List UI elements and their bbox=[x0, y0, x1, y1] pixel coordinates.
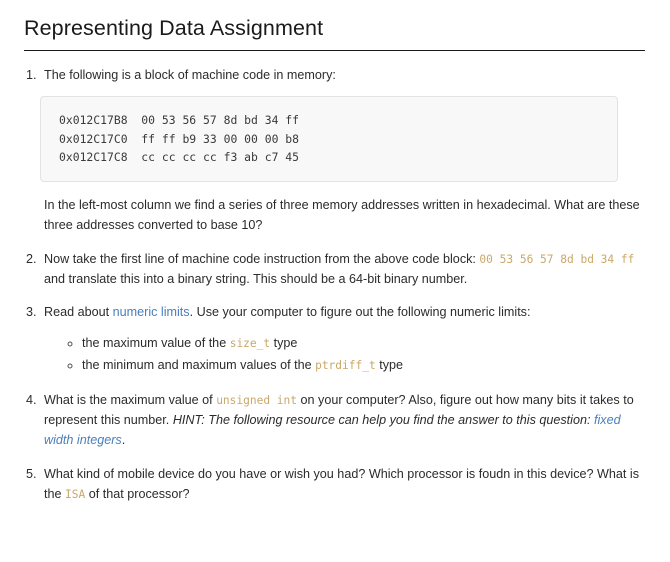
question-3-part2: . Use your computer to figure out the fo… bbox=[190, 305, 531, 319]
question-4-part1: What is the maximum value of bbox=[44, 393, 216, 407]
sub-item-0-inline-code: size_t bbox=[230, 337, 270, 350]
sub-item-0-part2: type bbox=[270, 336, 297, 350]
sub-item-1-part2: type bbox=[376, 358, 403, 372]
list-item: the minimum and maximum values of the pt… bbox=[82, 354, 646, 376]
question-item-2: Now take the first line of machine code … bbox=[40, 249, 646, 290]
question-item-1: The following is a block of machine code… bbox=[40, 65, 646, 236]
question-2-part1: Now take the first line of machine code … bbox=[44, 252, 479, 266]
question-item-3: Read about numeric limits. Use your comp… bbox=[40, 302, 646, 376]
document-body: The following is a block of machine code… bbox=[0, 51, 670, 505]
sub-item-0-part1: the maximum value of the bbox=[82, 336, 230, 350]
document-page: Representing Data Assignment The followi… bbox=[0, 0, 670, 562]
question-item-4: What is the maximum value of unsigned in… bbox=[40, 390, 646, 451]
question-2-inline-code: 00 53 56 57 8d bd 34 ff bbox=[479, 253, 634, 266]
numeric-limits-sub-list: the maximum value of the size_t type the… bbox=[44, 332, 646, 377]
question-5-part2: of that processor? bbox=[85, 487, 189, 501]
question-1-followup: In the left-most column we find a series… bbox=[44, 195, 646, 236]
list-item: the maximum value of the size_t type bbox=[82, 332, 646, 354]
page-title: Representing Data Assignment bbox=[0, 0, 670, 50]
question-4-part3: . bbox=[122, 433, 126, 447]
question-4-inline-code: unsigned int bbox=[216, 394, 297, 407]
assignment-question-list: The following is a block of machine code… bbox=[24, 65, 646, 505]
question-4-hint-text: HINT: The following resource can help yo… bbox=[173, 413, 594, 427]
sub-item-1-inline-code: ptrdiff_t bbox=[315, 359, 376, 372]
sub-item-1-part1: the minimum and maximum values of the bbox=[82, 358, 315, 372]
question-3-part1: Read about bbox=[44, 305, 113, 319]
numeric-limits-link[interactable]: numeric limits bbox=[113, 305, 190, 319]
question-5-inline-code: ISA bbox=[65, 488, 85, 501]
question-item-5: What kind of mobile device do you have o… bbox=[40, 464, 646, 505]
machine-code-block: 0x012C17B8 00 53 56 57 8d bd 34 ff 0x012… bbox=[40, 96, 618, 181]
question-2-part2: and translate this into a binary string.… bbox=[44, 272, 467, 286]
machine-code-text: 0x012C17B8 00 53 56 57 8d bd 34 ff 0x012… bbox=[59, 111, 601, 166]
question-1-intro: The following is a block of machine code… bbox=[44, 65, 646, 85]
